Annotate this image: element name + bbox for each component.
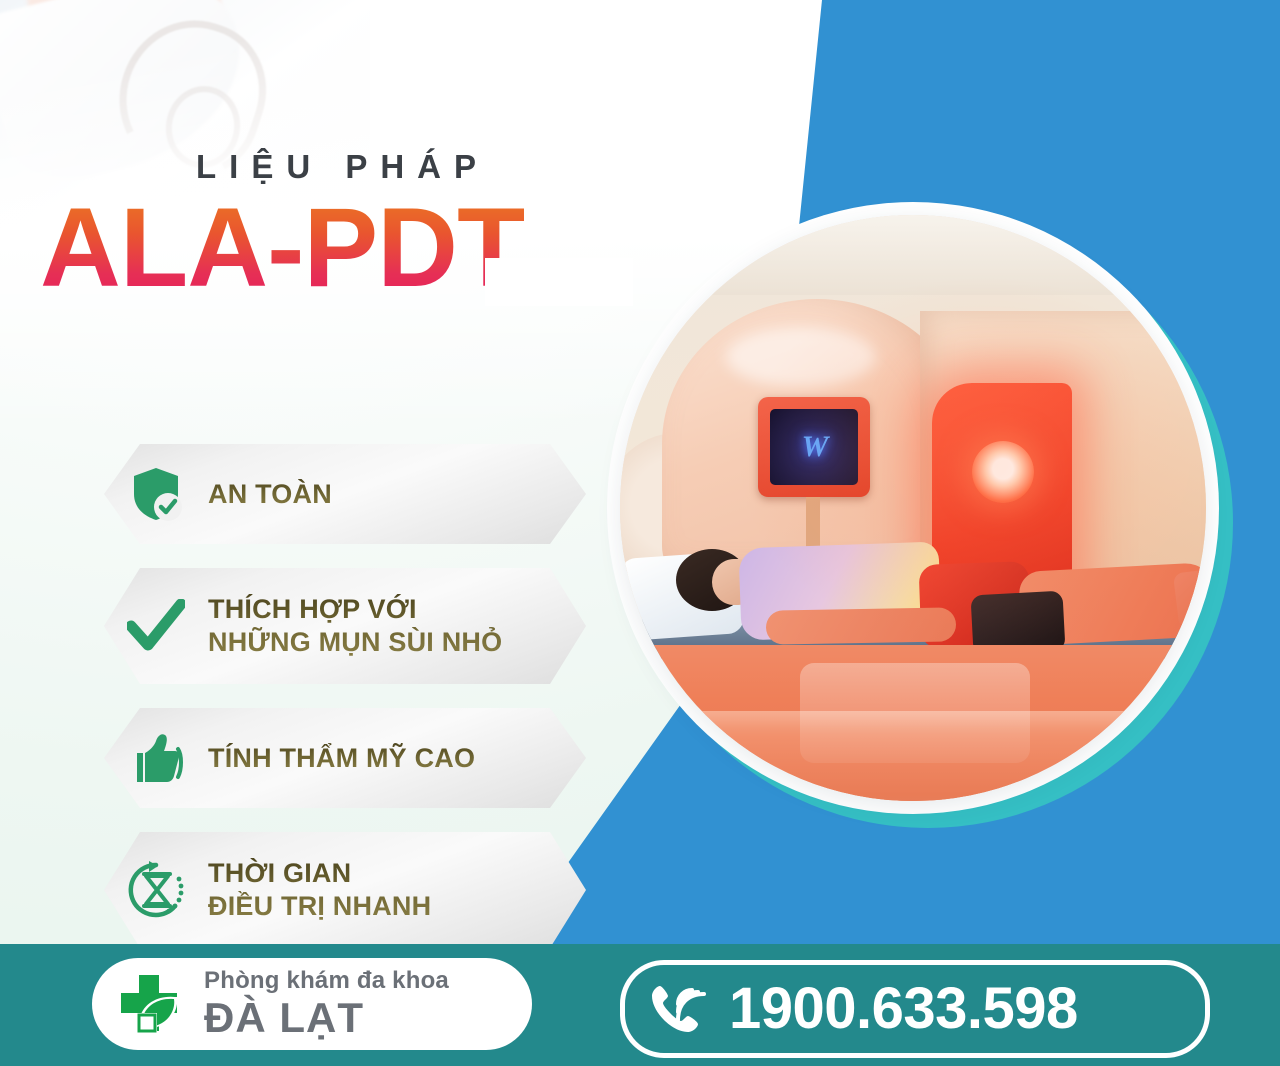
headline-brand: ALA-PDT [40,189,524,307]
white-mask-block [485,258,633,306]
headline-block: LIỆU PHÁP ALA-PDT [196,150,524,307]
phone-ringing-icon [625,978,729,1040]
checkmark-icon [104,599,208,653]
feature-badge-thoi-gian[interactable]: THỜI GIAN ĐIỀU TRỊ NHANH [104,832,586,948]
clinic-name: ĐÀ LẠT [204,996,449,1040]
medical-cross-leaf-icon [92,969,204,1039]
photo-red-glow [620,215,1206,801]
phone-number: 1900.633.598 [729,980,1078,1038]
clinic-text-block: Phòng khám đa khoa ĐÀ LẠT [204,968,449,1039]
feature-badge-an-toan[interactable]: AN TOÀN [104,444,586,544]
shield-check-icon [104,466,208,522]
headline-kicker: LIỆU PHÁP [196,150,524,183]
clock-hourglass-icon [104,859,208,921]
thumbs-up-icon [104,731,208,785]
feature-label: THỜI GIAN ĐIỀU TRỊ NHANH [208,857,445,923]
feature-label: AN TOÀN [208,478,346,511]
feature-list: AN TOÀN THÍCH HỢP VỚI NHỮNG MỤN SÙI NHỎ … [104,444,594,972]
feature-badge-thich-hop[interactable]: THÍCH HỢP VỚI NHỮNG MỤN SÙI NHỎ [104,568,586,684]
clinic-brand-pill[interactable]: Phòng khám đa khoa ĐÀ LẠT [92,958,532,1050]
feature-label: THÍCH HỢP VỚI NHỮNG MỤN SÙI NHỎ [208,593,516,659]
footer-bar: Phòng khám đa khoa ĐÀ LẠT 1900.633.598 [0,944,1280,1066]
treatment-photo: W [620,215,1206,801]
poster-root: W LIỆU PHÁP ALA-PDT [0,0,1280,1066]
phone-cta-pill[interactable]: 1900.633.598 [620,960,1210,1058]
feature-label: TÍNH THẨM MỸ CAO [208,742,489,775]
feature-badge-tham-my[interactable]: TÍNH THẨM MỸ CAO [104,708,586,808]
clinic-subtitle: Phòng khám đa khoa [204,968,449,993]
